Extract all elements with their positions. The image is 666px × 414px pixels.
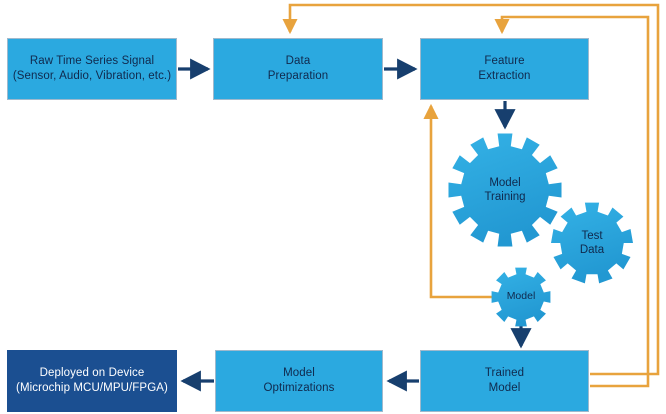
raw-time-series-signal-box[interactable]: Raw Time Series Signal (Sensor, Audio, V… <box>7 38 177 100</box>
diagram-canvas: Raw Time Series Signal (Sensor, Audio, V… <box>0 0 666 414</box>
test-data-gear[interactable] <box>551 203 633 284</box>
node-label-line: Raw Time Series Signal <box>30 54 154 69</box>
model-optimizations-box[interactable]: Model Optimizations <box>215 350 383 412</box>
feature-extraction-box[interactable]: Feature Extraction <box>420 38 589 100</box>
node-label-line: Optimizations <box>264 381 335 396</box>
trained-model-box[interactable]: Trained Model <box>420 350 589 412</box>
node-label-line: Preparation <box>268 69 329 84</box>
node-label-line: Data <box>286 54 311 69</box>
node-label-line: Trained <box>485 366 524 381</box>
model-gear[interactable] <box>492 268 551 327</box>
model-training-gear[interactable] <box>448 133 561 246</box>
data-preparation-box[interactable]: Data Preparation <box>213 38 383 100</box>
node-label-line: (Microchip MCU/MPU/FPGA) <box>16 381 168 396</box>
node-label-line: Model <box>283 366 315 381</box>
node-label-line: Model <box>489 381 521 396</box>
node-label-line: Extraction <box>478 69 530 84</box>
deployed-on-device-box[interactable]: Deployed on Device (Microchip MCU/MPU/FP… <box>7 350 177 412</box>
node-label-line: (Sensor, Audio, Vibration, etc.) <box>13 69 171 84</box>
node-label-line: Deployed on Device <box>40 366 145 381</box>
node-label-line: Feature <box>484 54 524 69</box>
